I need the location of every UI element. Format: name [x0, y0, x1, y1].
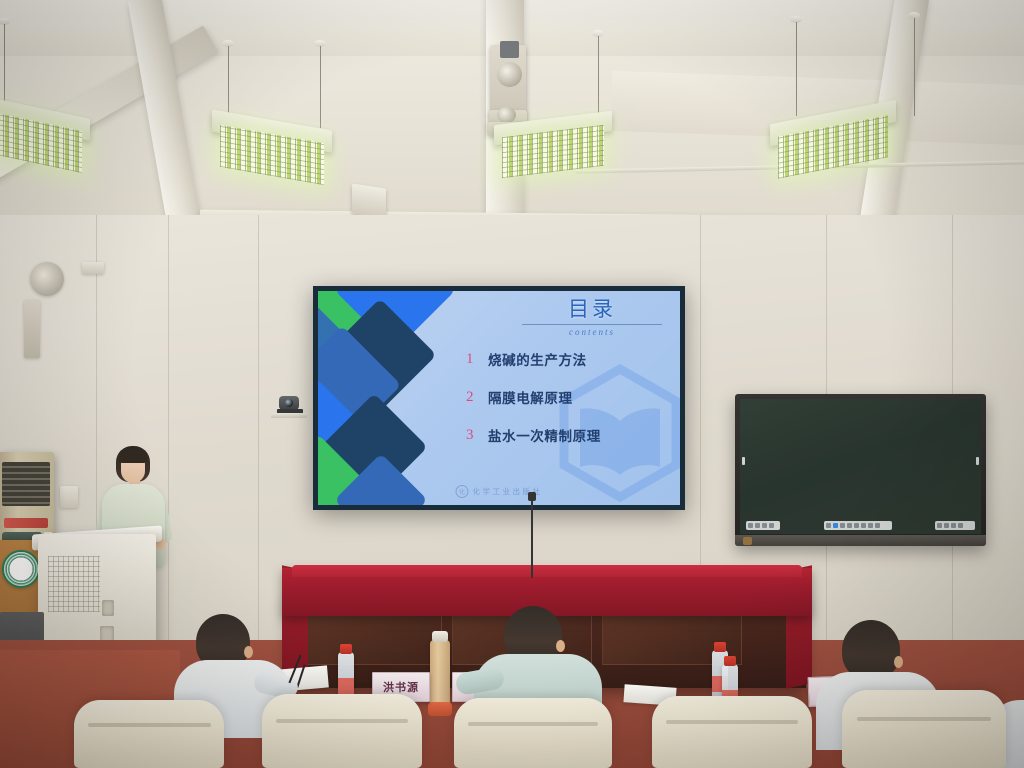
wall-outlet-upper[interactable]	[82, 262, 104, 274]
slide-content: 目录 contents 1 烧碱的生产方法 2 隔膜电解原理 3 盐水一次精制原…	[318, 291, 680, 505]
thermos-cap	[432, 631, 448, 642]
camera-lens-icon	[285, 399, 293, 407]
whiteboard-screen[interactable]	[740, 399, 981, 534]
whiteboard-icon[interactable]	[840, 523, 845, 528]
projector-box	[500, 41, 519, 58]
thermos-flask[interactable]	[430, 640, 450, 708]
toc-label: 盐水一次精制原理	[488, 425, 601, 445]
lamp-wire-0	[4, 24, 5, 110]
slide-toc-list: 1 烧碱的生产方法 2 隔膜电解原理 3 盐水一次精制原理	[466, 349, 601, 463]
chair-5[interactable]	[842, 690, 1006, 768]
whiteboard-brand-logo	[743, 537, 752, 545]
whiteboard-toolbar-right[interactable]	[935, 521, 975, 530]
toc-number: 1	[466, 351, 488, 368]
lamp-wire-4	[796, 22, 797, 116]
institution-emblem-icon	[2, 550, 40, 588]
ac-warning-label	[4, 518, 48, 528]
bottle-cap	[340, 644, 352, 654]
person-head	[842, 620, 900, 680]
slide-title: 目录	[522, 299, 662, 321]
whiteboard-toolbar-left[interactable]	[746, 521, 780, 530]
projector-secondary-lens	[497, 107, 516, 123]
whiteboard-bezel	[735, 535, 986, 546]
slide-header: 目录 contents	[522, 299, 662, 337]
whiteboard-icon[interactable]	[762, 523, 767, 528]
whiteboard-icon[interactable]	[944, 523, 949, 528]
toc-label: 烧碱的生产方法	[488, 349, 587, 369]
lamp-wire-2	[320, 46, 321, 128]
whiteboard-icon-active[interactable]	[833, 523, 838, 528]
lamp-wire-3	[598, 36, 599, 122]
bottle-label	[338, 678, 354, 694]
toc-item: 2 隔膜电解原理	[466, 387, 601, 407]
whiteboard-icon[interactable]	[875, 523, 880, 528]
wall-seam-1	[168, 215, 169, 665]
wall-seam-2	[258, 215, 259, 665]
ac-vent-grille	[2, 462, 50, 506]
toc-label: 隔膜电解原理	[488, 387, 573, 407]
wall-switch-panel[interactable]	[60, 486, 78, 508]
wall-mounted-speaker	[24, 300, 40, 358]
bottle-cap	[714, 642, 726, 652]
projection-screen[interactable]: 目录 contents 1 烧碱的生产方法 2 隔膜电解原理 3 盐水一次精制原…	[313, 286, 685, 510]
whiteboard-icon[interactable]	[769, 523, 774, 528]
presenter-fringe	[119, 451, 147, 463]
person-ear	[894, 656, 903, 668]
lectern-speaker-mesh	[48, 556, 100, 612]
gooseneck-microphone-stem	[531, 496, 533, 578]
whiteboard-led-right	[976, 457, 979, 465]
publisher-logo-icon: 化	[456, 485, 469, 498]
nameplate-text: 洪书源	[383, 679, 419, 695]
camera-shelf	[271, 413, 307, 418]
whiteboard-icon[interactable]	[951, 523, 956, 528]
lectern-slot-upper	[102, 600, 114, 616]
lamp-wire-5	[914, 18, 915, 116]
conference-room-photo: 目录 contents 1 烧碱的生产方法 2 隔膜电解原理 3 盐水一次精制原…	[0, 0, 1024, 768]
slide-subtitle: contents	[522, 327, 662, 337]
whiteboard-icon[interactable]	[748, 523, 753, 528]
thermos-base	[428, 702, 452, 716]
person-ear	[244, 646, 253, 658]
whiteboard-icon[interactable]	[861, 523, 866, 528]
whiteboard-led-left	[742, 457, 745, 465]
projector-lens	[497, 62, 522, 87]
toc-number: 2	[466, 389, 488, 406]
wall-dome-speaker	[30, 262, 64, 296]
whiteboard-icon[interactable]	[937, 523, 942, 528]
whiteboard-icon[interactable]	[958, 523, 963, 528]
person-ear	[556, 640, 565, 652]
bottle-cap	[724, 656, 736, 666]
whiteboard-icon[interactable]	[847, 523, 852, 528]
title-underline	[522, 324, 662, 325]
chair-2[interactable]	[262, 694, 422, 768]
chair-1[interactable]	[74, 700, 224, 768]
toc-item: 3 盐水一次精制原理	[466, 425, 601, 445]
tablecloth-top-edge	[292, 565, 802, 577]
whiteboard-icon[interactable]	[826, 523, 831, 528]
chair-4[interactable]	[652, 696, 812, 768]
toc-item: 1 烧碱的生产方法	[466, 349, 601, 369]
toc-number: 3	[466, 427, 488, 444]
whiteboard-icon[interactable]	[755, 523, 760, 528]
ptz-camera	[277, 396, 303, 418]
whiteboard-icon[interactable]	[854, 523, 859, 528]
interactive-whiteboard[interactable]	[735, 394, 986, 546]
chair-3[interactable]	[454, 698, 612, 768]
ceiling-speaker	[352, 183, 386, 218]
gooseneck-microphone-head	[528, 492, 536, 501]
whiteboard-toolbar-center[interactable]	[824, 521, 892, 530]
whiteboard-icon[interactable]	[868, 523, 873, 528]
